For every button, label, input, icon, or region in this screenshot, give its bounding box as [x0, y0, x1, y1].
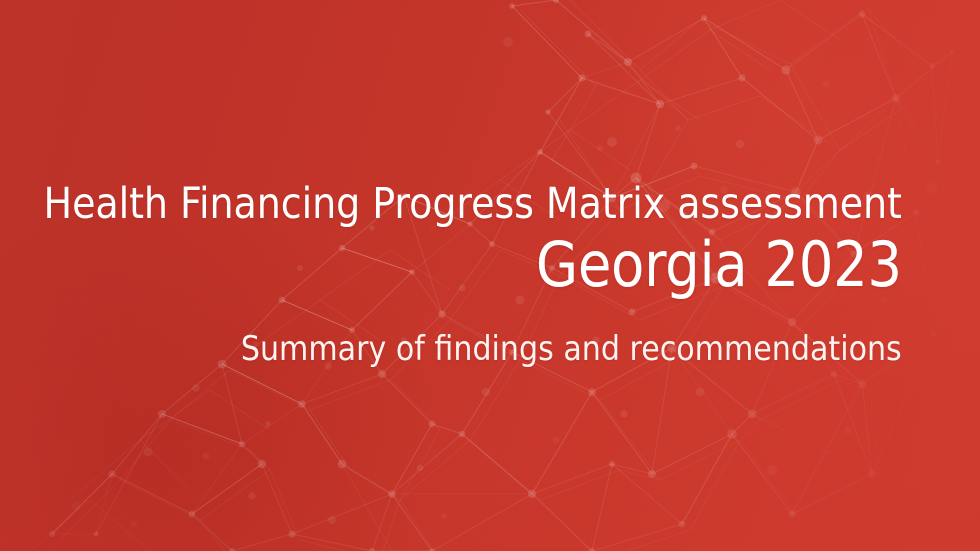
country-year-title: Georgia 2023 — [536, 233, 902, 297]
subtitle: Summary of findings and recommendations — [241, 332, 902, 368]
title-slide: Health Financing Progress Matrix assessm… — [0, 0, 980, 551]
assessment-title: Health Financing Progress Matrix assessm… — [44, 183, 902, 227]
title-text-block: Health Financing Progress Matrix assessm… — [0, 0, 902, 551]
